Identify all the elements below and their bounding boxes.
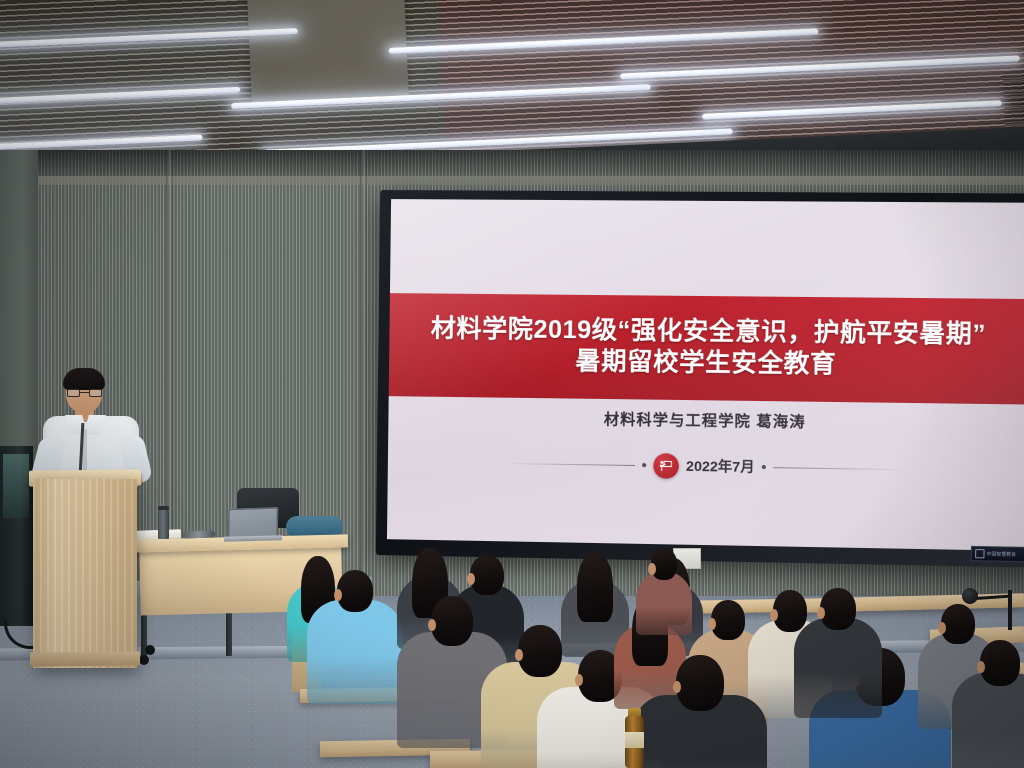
decorative-rule-right <box>773 467 907 470</box>
audience-member-head <box>820 588 856 630</box>
audience-member-ear <box>515 649 523 661</box>
laptop-screen[interactable] <box>228 507 278 539</box>
teacher-at-blackboard-icon <box>653 453 679 479</box>
slide-title-line-2: 暑期留校学生安全教育 <box>575 348 836 381</box>
cabinet-glass-door <box>3 454 29 518</box>
decorative-rule-left <box>503 463 635 466</box>
audience-member-torso <box>307 600 403 704</box>
audience-member-ear <box>428 619 436 631</box>
decorative-dot-left <box>642 463 646 467</box>
audience-member-head <box>676 655 724 711</box>
table-caster <box>145 645 155 655</box>
audience-member-head <box>577 552 613 622</box>
slide-date-text: 2022年7月 <box>686 456 755 477</box>
student-back-row-left <box>636 548 692 644</box>
audience-member-head <box>941 604 975 644</box>
audience-member-head <box>470 555 504 595</box>
display-brand-label: 中国智慧教育 <box>987 551 1017 558</box>
projection-screen[interactable]: 材料学院2019级“强化安全意识，护航平安暑期” 暑期留校学生安全教育 材料科学… <box>376 190 1024 568</box>
audience-member-ear <box>575 674 583 686</box>
screen-bezel: 材料学院2019级“强化安全意识，护航平安暑期” 暑期留校学生安全教育 材料科学… <box>376 190 1024 568</box>
presentation-slide: 材料学院2019级“强化安全意识，护航平安暑期” 暑期留校学生安全教育 材料科学… <box>387 199 1024 551</box>
audience-member-head <box>980 640 1020 686</box>
slide-date-row: 2022年7月 <box>388 449 1024 484</box>
lectern-wood-grain <box>33 479 137 668</box>
decorative-dot-right <box>762 465 766 469</box>
slide-subtitle: 材料科学与工程学院 葛海涛 <box>388 405 1024 435</box>
lectern-base <box>30 651 140 666</box>
eyeglasses-icon <box>67 389 102 397</box>
table-caster <box>139 655 149 665</box>
student-dark-shoulder <box>794 588 882 730</box>
wall-top-shadow <box>0 150 1024 186</box>
audience-member-torso <box>636 571 692 635</box>
cables-on-desk <box>183 530 215 538</box>
student-dark-tshirt-a <box>633 655 767 768</box>
wooden-lectern <box>33 479 137 668</box>
display-brand-icon: 中国智慧教育 <box>971 546 1024 562</box>
lecture-hall-photo: 材料学院2019级“强化安全意识，护航平安暑期” 暑期留校学生安全教育 材料科学… <box>0 0 1024 768</box>
audience-member-ear <box>648 563 656 575</box>
student-edge-right <box>952 640 1024 768</box>
slide-title-line-1: 材料学院2019级“强化安全意识，护航平安暑期” <box>431 314 987 350</box>
thermos-bottle <box>158 510 169 539</box>
ceiling-soffit-block <box>246 0 409 104</box>
wall-seam-2 <box>360 150 367 600</box>
audience-member-torso <box>952 673 1024 768</box>
speaker-hair <box>63 368 105 390</box>
drink-bottle-label <box>625 732 644 748</box>
audience-member-torso <box>794 618 882 718</box>
brand-mark <box>975 549 985 558</box>
audience-member-head <box>431 596 473 646</box>
audience-member-head <box>337 570 373 612</box>
ceiling-boom-microphone <box>962 588 978 604</box>
slide-title-banner: 材料学院2019级“强化安全意识，护航平安暑期” 暑期留校学生安全教育 <box>389 293 1024 405</box>
student-floral-blue-shirt <box>307 570 403 716</box>
audience-member-head <box>711 600 745 640</box>
audience-member-ear <box>673 681 681 693</box>
